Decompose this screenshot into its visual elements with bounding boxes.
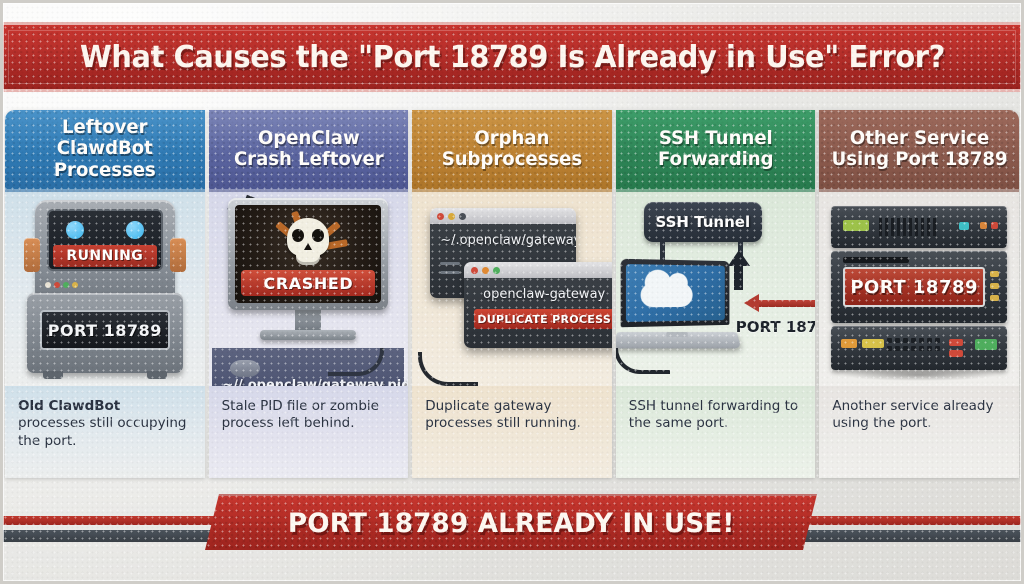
server-led-icon <box>990 283 999 289</box>
robot-eye-right <box>126 221 144 239</box>
panel-orphan-subprocesses: Orphan Subprocesses ~/.opencl <box>412 110 612 478</box>
panel-1-title: Leftover ClawdBot Processes <box>16 117 194 181</box>
duplicate-process-badge: DUPLICATE PROCESS <box>474 309 612 329</box>
server-vents <box>879 218 936 236</box>
keypad-key <box>911 346 916 351</box>
panel-2-caption-text: Stale PID file or zombie process left be… <box>222 398 379 431</box>
ssh-tunnel-sign: SSH Tunnel <box>644 202 762 242</box>
page-title: What Causes the "Port 18789 Is Already i… <box>80 40 945 75</box>
window-maximize-icon <box>459 213 466 220</box>
panel-2-title-line1: OpenClaw <box>234 128 384 149</box>
footer-ribbon: PORT 18789 ALREADY IN USE! <box>205 494 817 550</box>
window-close-icon <box>471 267 478 274</box>
robot-indicator-icon <box>45 282 51 288</box>
panel-1-title-line1: Leftover <box>16 117 194 138</box>
server-unit-middle: PORT 18789 <box>831 251 1007 323</box>
keypad-key <box>903 346 908 351</box>
panel-5-title-line2: Using Port 18789 <box>831 149 1007 170</box>
vent-slot <box>885 218 888 236</box>
keypad-key <box>927 338 932 343</box>
server-led-icon <box>980 222 987 229</box>
panel-5-caption: Another service already using the port. <box>819 386 1019 478</box>
server-shadow <box>841 369 997 381</box>
skull-jaw <box>296 253 320 265</box>
laptop-cable <box>616 348 670 374</box>
panel-strip: Leftover ClawdBot Processes RUNNING <box>5 110 1019 478</box>
title-banner: What Causes the "Port 18789 Is Already i… <box>0 22 1024 92</box>
panel-4-title-line2: Forwarding <box>658 149 774 170</box>
panel-3-caption: Duplicate gateway processes still runnin… <box>412 386 612 478</box>
panel-2-title: OpenClaw Crash Leftover <box>234 128 384 171</box>
panel-other-service-using-port: Other Service Using Port 18789 <box>819 110 1019 478</box>
keypad-key <box>895 346 900 351</box>
crashed-monitor-graphic: CRASHED ~//.openclaw/gateway.pid <box>222 198 394 340</box>
terminal-back-path: ~/.openclaw/gateway <box>440 233 566 248</box>
vent-slot <box>933 218 936 236</box>
cloud-icon <box>640 283 692 308</box>
panel-4-caption: SSH tunnel forwarding to the same port. <box>616 386 816 478</box>
robot-control-strip <box>45 279 165 291</box>
panel-3-title-line2: Subprocesses <box>442 149 582 170</box>
panel-2-caption: Stale PID file or zombie process left be… <box>209 386 409 478</box>
arrow-shaft <box>758 300 816 307</box>
server-display-icon <box>843 220 869 231</box>
robot-ear-right <box>170 238 186 272</box>
panel-4-title-line1: SSH Tunnel <box>658 128 774 149</box>
terminal-front-process: openclaw-gateway <box>474 287 612 302</box>
panel-1-illustration: RUNNING PORT 18789 <box>5 192 205 386</box>
keypad-key <box>887 346 892 351</box>
keypad-key <box>935 346 940 351</box>
panel-3-title-line1: Orphan <box>442 128 582 149</box>
terminal-titlebar <box>464 262 612 278</box>
panel-3-caption-text: Duplicate gateway processes still runnin… <box>425 398 581 431</box>
pid-file-path-label: ~//.openclaw/gateway.pid <box>222 378 394 386</box>
server-display-icon <box>975 339 997 350</box>
arrow-tip-right <box>815 294 816 312</box>
panel-1-caption: Old ClawdBot processes still occupying t… <box>5 386 205 478</box>
keypad-key <box>895 338 900 343</box>
panel-5-title-line1: Other Service <box>831 128 1007 149</box>
vent-slot <box>891 218 894 236</box>
server-unit-top <box>831 206 1007 248</box>
terminal-window-front: openclaw-gateway DUPLICATE PROCESS <box>464 262 612 348</box>
robot-ear-left <box>24 238 40 272</box>
vent-slot <box>915 218 918 236</box>
panel-4-header: SSH Tunnel Forwarding <box>616 110 816 192</box>
server-led-icon <box>990 295 999 301</box>
server-keypad <box>887 338 940 351</box>
server-led-icon <box>841 339 857 348</box>
ssh-port-label: PORT 18789 <box>736 318 816 336</box>
panel-4-caption-text: SSH tunnel forwarding to the same port. <box>629 398 798 431</box>
mouse-icon <box>230 360 260 377</box>
vent-slot <box>927 218 930 236</box>
robot-graphic: RUNNING PORT 18789 <box>27 200 183 373</box>
terminal-line <box>440 262 460 265</box>
skull-nose <box>304 243 312 250</box>
laptop-screen <box>626 264 725 322</box>
vent-slot <box>897 218 900 236</box>
keypad-key <box>887 338 892 343</box>
server-port-plate: PORT 18789 <box>843 267 985 307</box>
panel-4-title: SSH Tunnel Forwarding <box>658 128 774 171</box>
skull-eye-left <box>292 229 304 242</box>
panel-2-title-line2: Crash Leftover <box>234 149 384 170</box>
keypad-key <box>911 338 916 343</box>
ssh-tunnel-graphic: SSH Tunnel <box>616 198 816 386</box>
panel-3-illustration: ~/.openclaw/gateway <box>412 192 612 386</box>
arrow-tip-left <box>744 294 759 312</box>
panel-5-title: Other Service Using Port 18789 <box>831 128 1007 171</box>
panel-4-illustration: SSH Tunnel <box>616 192 816 386</box>
window-minimize-icon <box>482 267 489 274</box>
robot-indicator-icon <box>72 282 78 288</box>
robot-indicator-icon <box>63 282 69 288</box>
terminal-titlebar <box>430 208 576 224</box>
vent-slot <box>903 218 906 236</box>
panel-1-header: Leftover ClawdBot Processes <box>5 110 205 192</box>
robot-foot-right <box>147 371 167 379</box>
panel-ssh-tunnel-forwarding: SSH Tunnel Forwarding SSH Tunnel <box>616 110 816 478</box>
panel-leftover-clawdbot-processes: Leftover ClawdBot Processes RUNNING <box>5 110 205 478</box>
server-display-icon <box>862 339 884 348</box>
vent-slot <box>921 218 924 236</box>
panel-5-illustration: PORT 18789 <box>819 192 1019 386</box>
terminal-windows-graphic: ~/.openclaw/gateway <box>412 202 612 386</box>
keypad-key <box>927 346 932 351</box>
window-maximize-icon <box>493 267 500 274</box>
panel-1-caption-text: processes still occupying the port. <box>18 415 186 448</box>
laptop-keyboard <box>616 332 741 348</box>
skull-icon <box>287 218 329 256</box>
bidirectional-arrow-icon <box>744 294 816 312</box>
crashed-status-badge: CRASHED <box>241 270 375 296</box>
robot-body: PORT 18789 <box>27 293 183 373</box>
terminal-line <box>440 271 460 274</box>
infographic-poster: What Causes the "Port 18789 Is Already i… <box>0 0 1024 584</box>
server-led-icon <box>949 339 963 346</box>
laptop-trackpad <box>666 332 688 337</box>
window-minimize-icon <box>448 213 455 220</box>
server-led-icon <box>990 271 999 277</box>
robot-eye-left <box>66 221 84 239</box>
server-led-icon <box>959 222 969 230</box>
server-unit-bottom <box>831 326 1007 370</box>
panel-openclaw-crash-leftover: OpenClaw Crash Leftover <box>209 110 409 478</box>
running-status-badge: RUNNING <box>53 245 157 267</box>
monitor-bezel: CRASHED <box>228 198 388 310</box>
keypad-key <box>935 338 940 343</box>
server-led-icon <box>949 350 963 357</box>
terminal-cable <box>418 352 478 386</box>
robot-foot-left <box>43 371 63 379</box>
window-close-icon <box>437 213 444 220</box>
footer-text: PORT 18789 ALREADY IN USE! <box>288 508 735 539</box>
robot-indicator-icon <box>54 282 60 288</box>
server-drive-slot <box>843 257 909 263</box>
panel-1-caption-bold: Old ClawdBot <box>18 398 120 414</box>
panel-5-header: Other Service Using Port 18789 <box>819 110 1019 192</box>
panel-2-header: OpenClaw Crash Leftover <box>209 110 409 192</box>
sign-leg-left <box>660 242 665 260</box>
panel-3-header: Orphan Subprocesses <box>412 110 612 192</box>
keypad-key <box>919 338 924 343</box>
terminal-body: openclaw-gateway DUPLICATE PROCESS <box>464 278 612 348</box>
vent-slot <box>879 218 882 236</box>
robot-face-screen: RUNNING <box>47 209 163 271</box>
panel-2-illustration: CRASHED ~//.openclaw/gateway.pid <box>209 192 409 386</box>
vent-slot <box>909 218 912 236</box>
laptop-icon <box>622 260 742 351</box>
panel-5-caption-text: Another service already using the port. <box>832 398 993 431</box>
monitor-base <box>260 330 356 340</box>
server-led-icon <box>991 222 998 229</box>
panel-1-title-line2: ClawdBot Processes <box>16 138 194 181</box>
laptop-lid <box>620 259 729 327</box>
keypad-key <box>903 338 908 343</box>
robot-head: RUNNING <box>35 200 175 296</box>
monitor-stand <box>295 310 321 330</box>
monitor-screen: CRASHED <box>235 205 381 303</box>
skull-eye-right <box>312 229 324 242</box>
server-rack-graphic: PORT 18789 <box>831 206 1007 373</box>
panel-3-title: Orphan Subprocesses <box>442 128 582 171</box>
keypad-key <box>919 346 924 351</box>
robot-port-plate: PORT 18789 <box>40 310 170 350</box>
